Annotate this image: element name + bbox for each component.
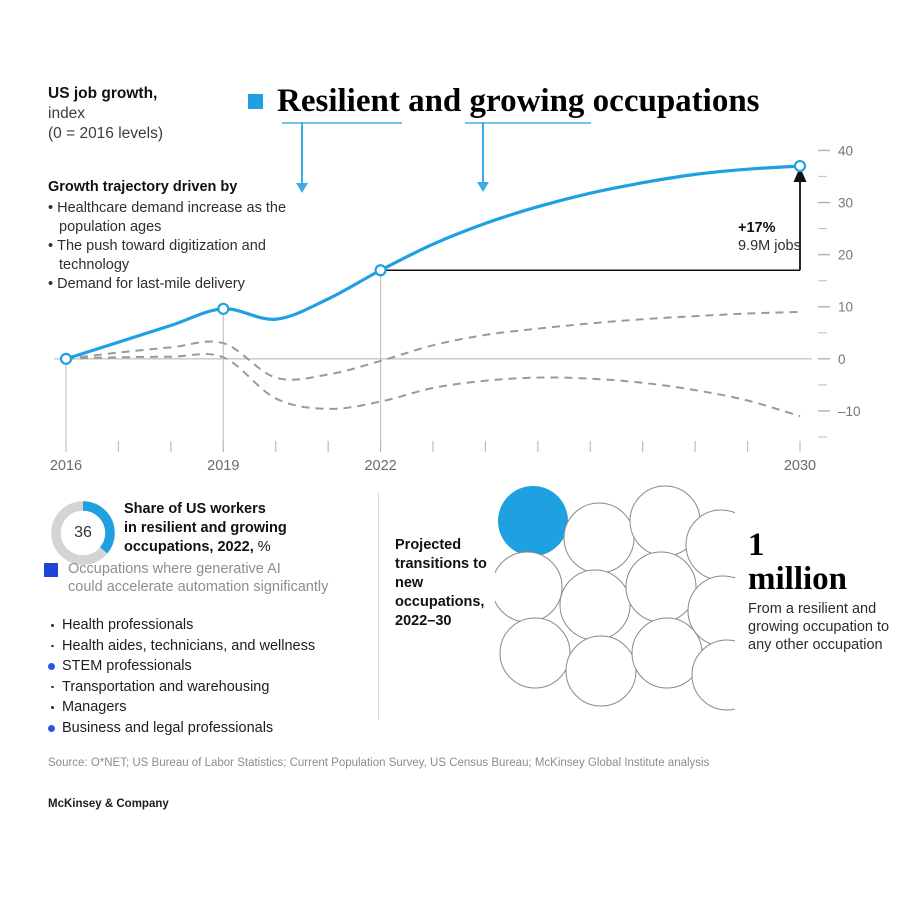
- donut-description-line-3: occupations, 2022, %: [124, 538, 339, 557]
- occupation-label: Managers: [62, 699, 126, 715]
- share-donut-chart: 36: [48, 498, 118, 568]
- kicker-line-2: index: [48, 104, 258, 124]
- occupation-label: STEM professionals: [62, 658, 192, 674]
- source-note: Source: O*NET; US Bureau of Labor Statis…: [48, 757, 848, 769]
- transitions-description: From a resilient and growing occupation …: [748, 600, 893, 654]
- bullet-icon: [51, 706, 54, 709]
- transition-circle-highlighted: [498, 486, 568, 556]
- donut-description: Share of US workers in resilient and gro…: [124, 500, 339, 557]
- big-number-line-2: million: [748, 562, 898, 596]
- callout-arrow-1-head-icon: [296, 183, 308, 193]
- occupation-label: Transportation and warehousing: [62, 679, 269, 695]
- section-divider: [378, 492, 379, 720]
- growth-drivers-list: Healthcare demand increase as the popula…: [48, 199, 288, 294]
- big-number-line-1: 1: [748, 528, 898, 562]
- chart-kicker: US job growth, index (0 = 2016 levels): [48, 84, 258, 144]
- driver-item: Healthcare demand increase as the popula…: [48, 199, 288, 236]
- donut-description-line-2: in resilient and growing: [124, 519, 339, 538]
- callout-arrow-1-line: [301, 122, 303, 184]
- transition-circle: [626, 552, 696, 622]
- donut-description-line-1: Share of US workers: [124, 500, 339, 519]
- growth-drivers-block: Growth trajectory driven by Healthcare d…: [48, 178, 288, 295]
- driver-item: The push toward digitization and technol…: [48, 237, 288, 274]
- kicker-line-3: (0 = 2016 levels): [48, 124, 258, 144]
- transition-circle: [566, 636, 636, 706]
- transitions-circle-cluster: [495, 483, 735, 723]
- transition-circle: [560, 570, 630, 640]
- driver-item: Demand for last-mile delivery: [48, 275, 288, 294]
- svg-text:2022: 2022: [364, 458, 396, 474]
- transitions-title: Projected transitions to new occupations…: [395, 536, 495, 631]
- occupations-list: Health professionals Health aides, techn…: [48, 615, 368, 738]
- list-item: Health professionals: [48, 615, 368, 636]
- bullet-icon: [51, 645, 54, 648]
- list-item: Business and legal professionals: [48, 718, 368, 739]
- callout-arrow-2-line: [482, 122, 484, 183]
- blue-square-marker-icon: [248, 94, 263, 109]
- list-item: STEM professionals: [48, 656, 368, 677]
- transition-circle: [495, 552, 562, 622]
- growth-annotation-percent: +17%: [738, 220, 776, 236]
- svg-text:2030: 2030: [784, 458, 816, 474]
- transitions-big-number: 1 million: [748, 528, 898, 596]
- brand-mckinsey: McKinsey & Company: [48, 798, 169, 810]
- transition-circle: [632, 618, 702, 688]
- bullet-icon: [51, 624, 54, 627]
- transition-circle: [500, 618, 570, 688]
- donut-value-label: 36: [48, 498, 118, 568]
- donut-percent-symbol: %: [254, 539, 271, 555]
- occupation-label: Health aides, technicians, and wellness: [62, 638, 315, 654]
- bullet-icon: [51, 686, 54, 689]
- page-title-text: Resilient and growing occupations: [277, 82, 760, 120]
- svg-text:20: 20: [838, 248, 853, 263]
- generative-ai-legend: Occupations where generative AI could ac…: [44, 560, 368, 596]
- kicker-line-1: US job growth,: [48, 84, 258, 104]
- title-underline-resilient: [282, 122, 402, 124]
- list-item: Transportation and warehousing: [48, 677, 368, 698]
- donut-description-line-3-bold: occupations, 2022,: [124, 539, 254, 555]
- generative-ai-bullet-icon: [48, 725, 55, 732]
- list-item: Health aides, technicians, and wellness: [48, 636, 368, 657]
- svg-text:10: 10: [838, 300, 853, 315]
- occupation-label: Health professionals: [62, 617, 193, 633]
- growth-drivers-title: Growth trajectory driven by: [48, 178, 288, 197]
- transition-circle: [564, 503, 634, 573]
- svg-text:–10: –10: [838, 404, 861, 419]
- svg-text:0: 0: [838, 352, 846, 367]
- svg-text:30: 30: [838, 196, 853, 211]
- svg-text:2019: 2019: [207, 458, 239, 474]
- ai-legend-line-1: Occupations where generative AI: [68, 560, 368, 578]
- occupation-label: Business and legal professionals: [62, 720, 273, 736]
- svg-text:40: 40: [838, 143, 853, 158]
- list-item: Managers: [48, 697, 368, 718]
- svg-text:2016: 2016: [50, 458, 82, 474]
- growth-annotation-jobs: 9.9M jobs: [738, 238, 801, 254]
- ai-legend-line-2: could accelerate automation significantl…: [68, 578, 368, 596]
- callout-arrow-2-head-icon: [477, 182, 489, 192]
- page-title: Resilient and growing occupations: [248, 82, 868, 120]
- generative-ai-bullet-icon: [48, 663, 55, 670]
